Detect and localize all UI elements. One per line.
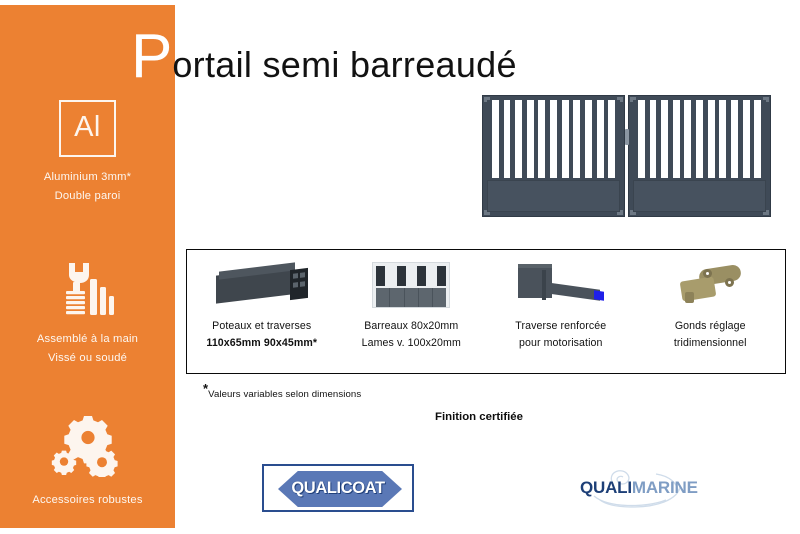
- sidebar-item-aluminium-line2: Double paroi: [0, 187, 175, 206]
- motorised-crossbar-icon: [518, 259, 604, 311]
- product-datasheet-page: Al Aluminium 3mm* Double paroi: [0, 0, 800, 534]
- gate-panel-left: [482, 95, 625, 217]
- page-title-dropcap: P: [131, 22, 172, 91]
- footnote: *Valeurs variables selon dimensions: [203, 381, 361, 400]
- qualimarine-wordmark-part1: QUALI: [580, 478, 632, 497]
- feature-poteaux-line1: Poteaux et traverses: [212, 318, 311, 335]
- feature-poteaux-line2: 110x65mm 90x45mm*: [206, 335, 317, 352]
- feature-barreaux-line1: Barreaux 80x20mm: [364, 318, 458, 335]
- feature-traverse-line1: Traverse renforcée: [515, 318, 606, 335]
- feature-traverse-renforcee: Traverse renforcée pour motorisation: [486, 250, 636, 373]
- page-title-rest: ortail semi barreaudé: [172, 44, 516, 85]
- sidebar-item-aluminium: Al Aluminium 3mm* Double paroi: [0, 100, 175, 206]
- gate-centre-mullion: [625, 95, 628, 217]
- sidebar-item-assembly-line1: Assemblé à la main: [0, 330, 175, 349]
- sidebar-item-accessories-line1: Accessoires robustes: [0, 491, 175, 510]
- sidebar-item-aluminium-line1: Aluminium 3mm*: [0, 168, 175, 187]
- page-title: Portail semi barreaudé: [131, 28, 517, 86]
- feature-gonds-line1: Gonds réglage: [675, 318, 746, 335]
- certification-heading: Finition certifiée: [435, 411, 523, 423]
- feature-barreaux-line2: Lames v. 100x20mm: [362, 335, 461, 352]
- gate-handle-icon: [625, 129, 629, 145]
- gate-product-image: [470, 85, 785, 225]
- sidebar-item-assembly-line2: Vissé ou soudé: [0, 349, 175, 368]
- feature-gonds: Gonds réglage tridimensionnel: [636, 250, 786, 373]
- qualicoat-logo: QUALICOAT: [262, 464, 414, 512]
- aluminium-profile-icon: [216, 259, 308, 311]
- bars-slats-icon: [372, 259, 450, 311]
- feature-gonds-line2: tridimensionnel: [674, 335, 747, 352]
- feature-traverse-line2: pour motorisation: [519, 335, 603, 352]
- qualimarine-logo: QUALIMARINE: [560, 466, 710, 510]
- qualimarine-wordmark: QUALIMARINE: [580, 478, 698, 498]
- feature-poteaux-et-traverses: Poteaux et traverses 110x65mm 90x45mm*: [187, 250, 337, 373]
- hand-assembly-icon: [0, 261, 175, 322]
- feature-specs-panel: Poteaux et traverses 110x65mm 90x45mm* B…: [186, 249, 786, 374]
- gate-panel-right: [628, 95, 771, 217]
- qualimarine-wordmark-part2: MARINE: [632, 478, 698, 497]
- sidebar-item-accessories: Accessoires robustes: [0, 415, 175, 510]
- sidebar-item-assembly: Assemblé à la main Vissé ou soudé: [0, 261, 175, 368]
- qualicoat-wordmark: QUALICOAT: [291, 479, 384, 498]
- footnote-text: Valeurs variables selon dimensions: [208, 389, 361, 400]
- aluminium-square-icon: Al: [59, 100, 116, 157]
- aluminium-symbol-text: Al: [74, 113, 101, 145]
- hinge-icon: [677, 259, 743, 311]
- feature-barreaux: Barreaux 80x20mm Lames v. 100x20mm: [337, 250, 487, 373]
- gears-icon: [0, 415, 175, 482]
